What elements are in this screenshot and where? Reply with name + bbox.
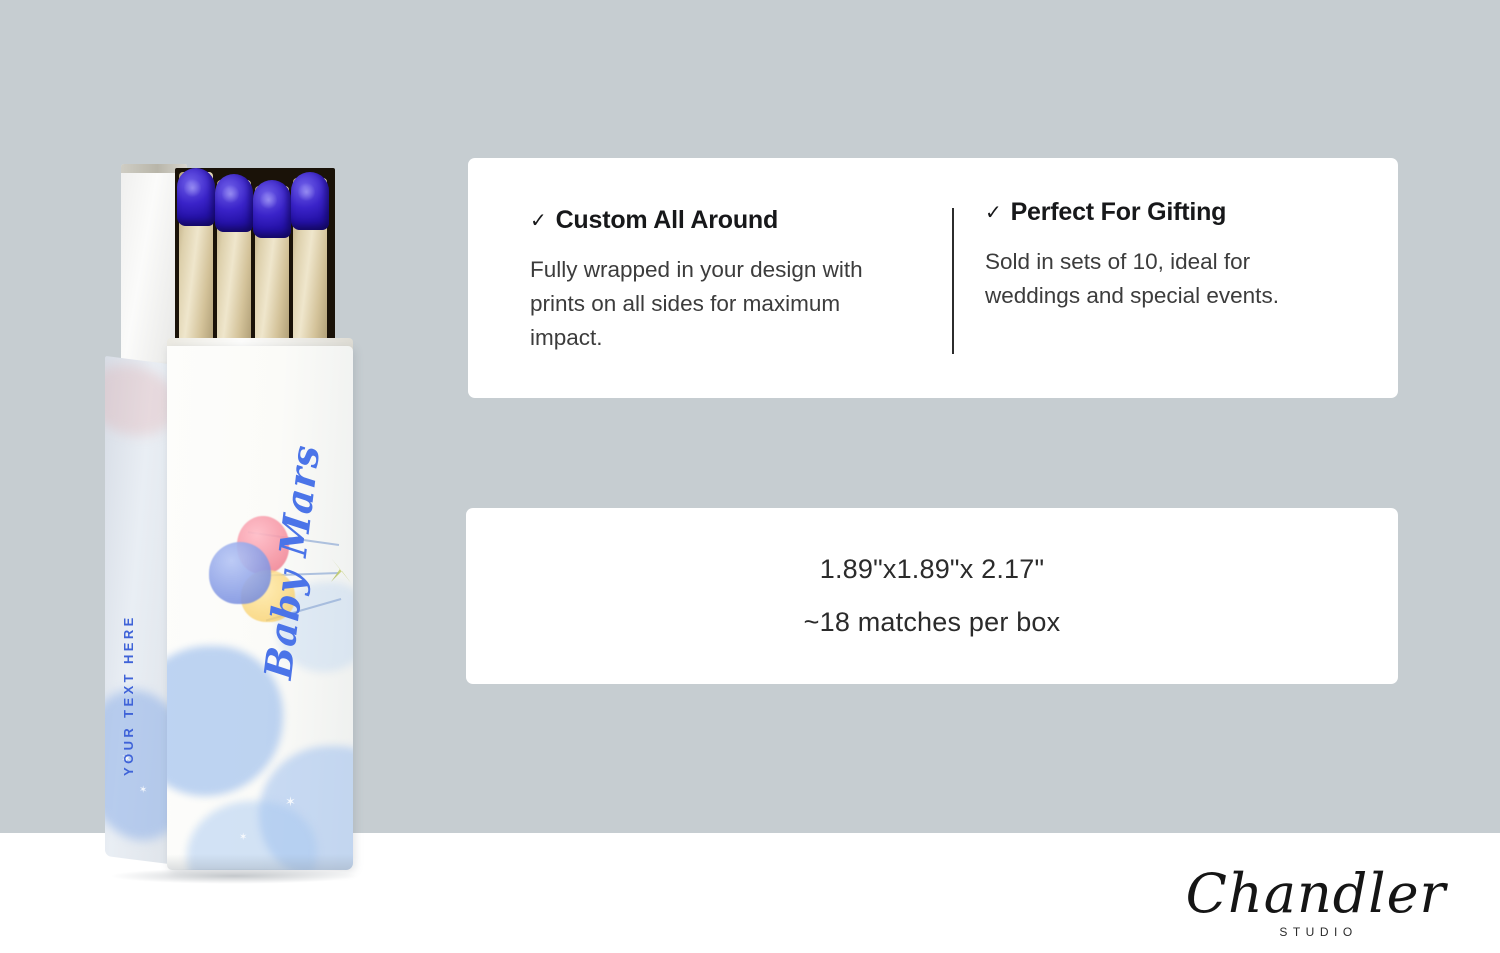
box-your-text-here-label: YOUR TEXT HERE <box>121 614 136 776</box>
star-icon: ✶ <box>139 784 147 796</box>
feature-column-perfect-for-gifting: ✓ Perfect For Gifting Sold in sets of 10… <box>927 158 1398 313</box>
matchbox-product-photo: ✶ ✶ ✶ ✶ Baby Mars <box>95 150 395 890</box>
feature-heading-text: Custom All Around <box>556 206 779 235</box>
product-feature-graphic: ✶ ✶ ✶ ✶ Baby Mars <box>0 0 1500 953</box>
check-icon: ✓ <box>985 203 1002 223</box>
match-head-icon <box>215 174 253 232</box>
features-card: ✓ Custom All Around Fully wrapped in you… <box>468 158 1398 398</box>
watercolor-wash <box>105 360 169 441</box>
balloon-blue-icon <box>209 542 271 604</box>
brand-name-text: Chandler <box>1176 867 1456 921</box>
feature-column-divider <box>952 208 954 354</box>
feature-heading: ✓ Perfect For Gifting <box>985 198 1342 227</box>
feature-heading: ✓ Custom All Around <box>530 206 887 235</box>
watercolor-wash <box>105 683 169 847</box>
matchbox-sleeve: ✶ ✶ ✶ ✶ Baby Mars <box>105 346 353 882</box>
bow-icon <box>331 558 351 584</box>
match-head-icon <box>291 172 329 230</box>
brand-logo: Chandler STUDIO <box>1176 867 1456 939</box>
matches-per-box-text: ~18 matches per box <box>804 607 1061 638</box>
check-icon: ✓ <box>530 211 547 231</box>
match-head-icon <box>177 168 215 226</box>
matchbox-front-panel: ✶ ✶ Baby Mars <box>167 346 353 870</box>
dimensions-card: 1.89"x1.89"x 2.17" ~18 matches per box <box>466 508 1398 684</box>
star-icon: ✶ <box>285 794 296 810</box>
feature-column-custom-all-around: ✓ Custom All Around Fully wrapped in you… <box>468 158 927 356</box>
brand-subtitle-text: STUDIO <box>1176 925 1456 939</box>
feature-body-text: Sold in sets of 10, ideal for weddings a… <box>985 245 1333 313</box>
matchbox-side-panel: ✶ ✶ <box>105 356 169 864</box>
feature-body-text: Fully wrapped in your design with prints… <box>530 253 887 356</box>
product-dimensions-text: 1.89"x1.89"x 2.17" <box>820 554 1045 585</box>
star-icon: ✶ <box>239 832 247 843</box>
product-shadow <box>109 868 359 884</box>
match-head-icon <box>253 180 291 238</box>
feature-heading-text: Perfect For Gifting <box>1011 198 1227 227</box>
